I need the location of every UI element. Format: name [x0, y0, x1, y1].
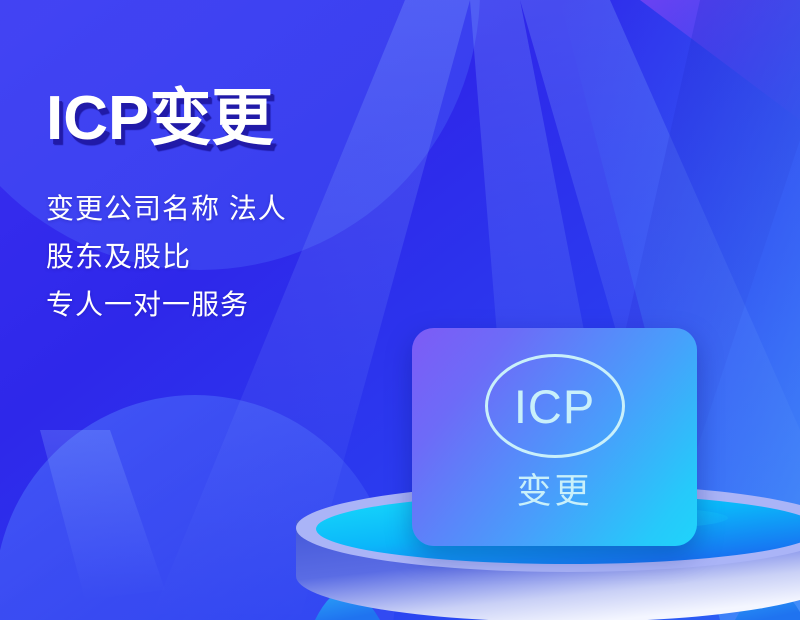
icp-card-content: ICP 变更 — [412, 328, 697, 546]
promo-banner: ICP 变更 ICP变更 变更公司名称 法人 股东及股比 专人一对一服务 — [0, 0, 800, 620]
headline-block: ICP变更 变更公司名称 法人 股东及股比 专人一对一服务 — [46, 86, 406, 330]
subtitle-line-2: 股东及股比 — [46, 233, 406, 281]
subtitle-line-3: 专人一对一服务 — [46, 281, 406, 329]
page-title: ICP变更 — [46, 86, 406, 151]
subtitle-line-1: 变更公司名称 法人 — [46, 185, 406, 233]
icp-card-caption: 变更 — [516, 474, 592, 509]
icp-card[interactable]: ICP 变更 — [412, 328, 697, 546]
subtitle-block: 变更公司名称 法人 股东及股比 专人一对一服务 — [46, 151, 406, 329]
icp-badge: ICP — [485, 354, 625, 458]
icp-badge-text: ICP — [514, 383, 595, 430]
